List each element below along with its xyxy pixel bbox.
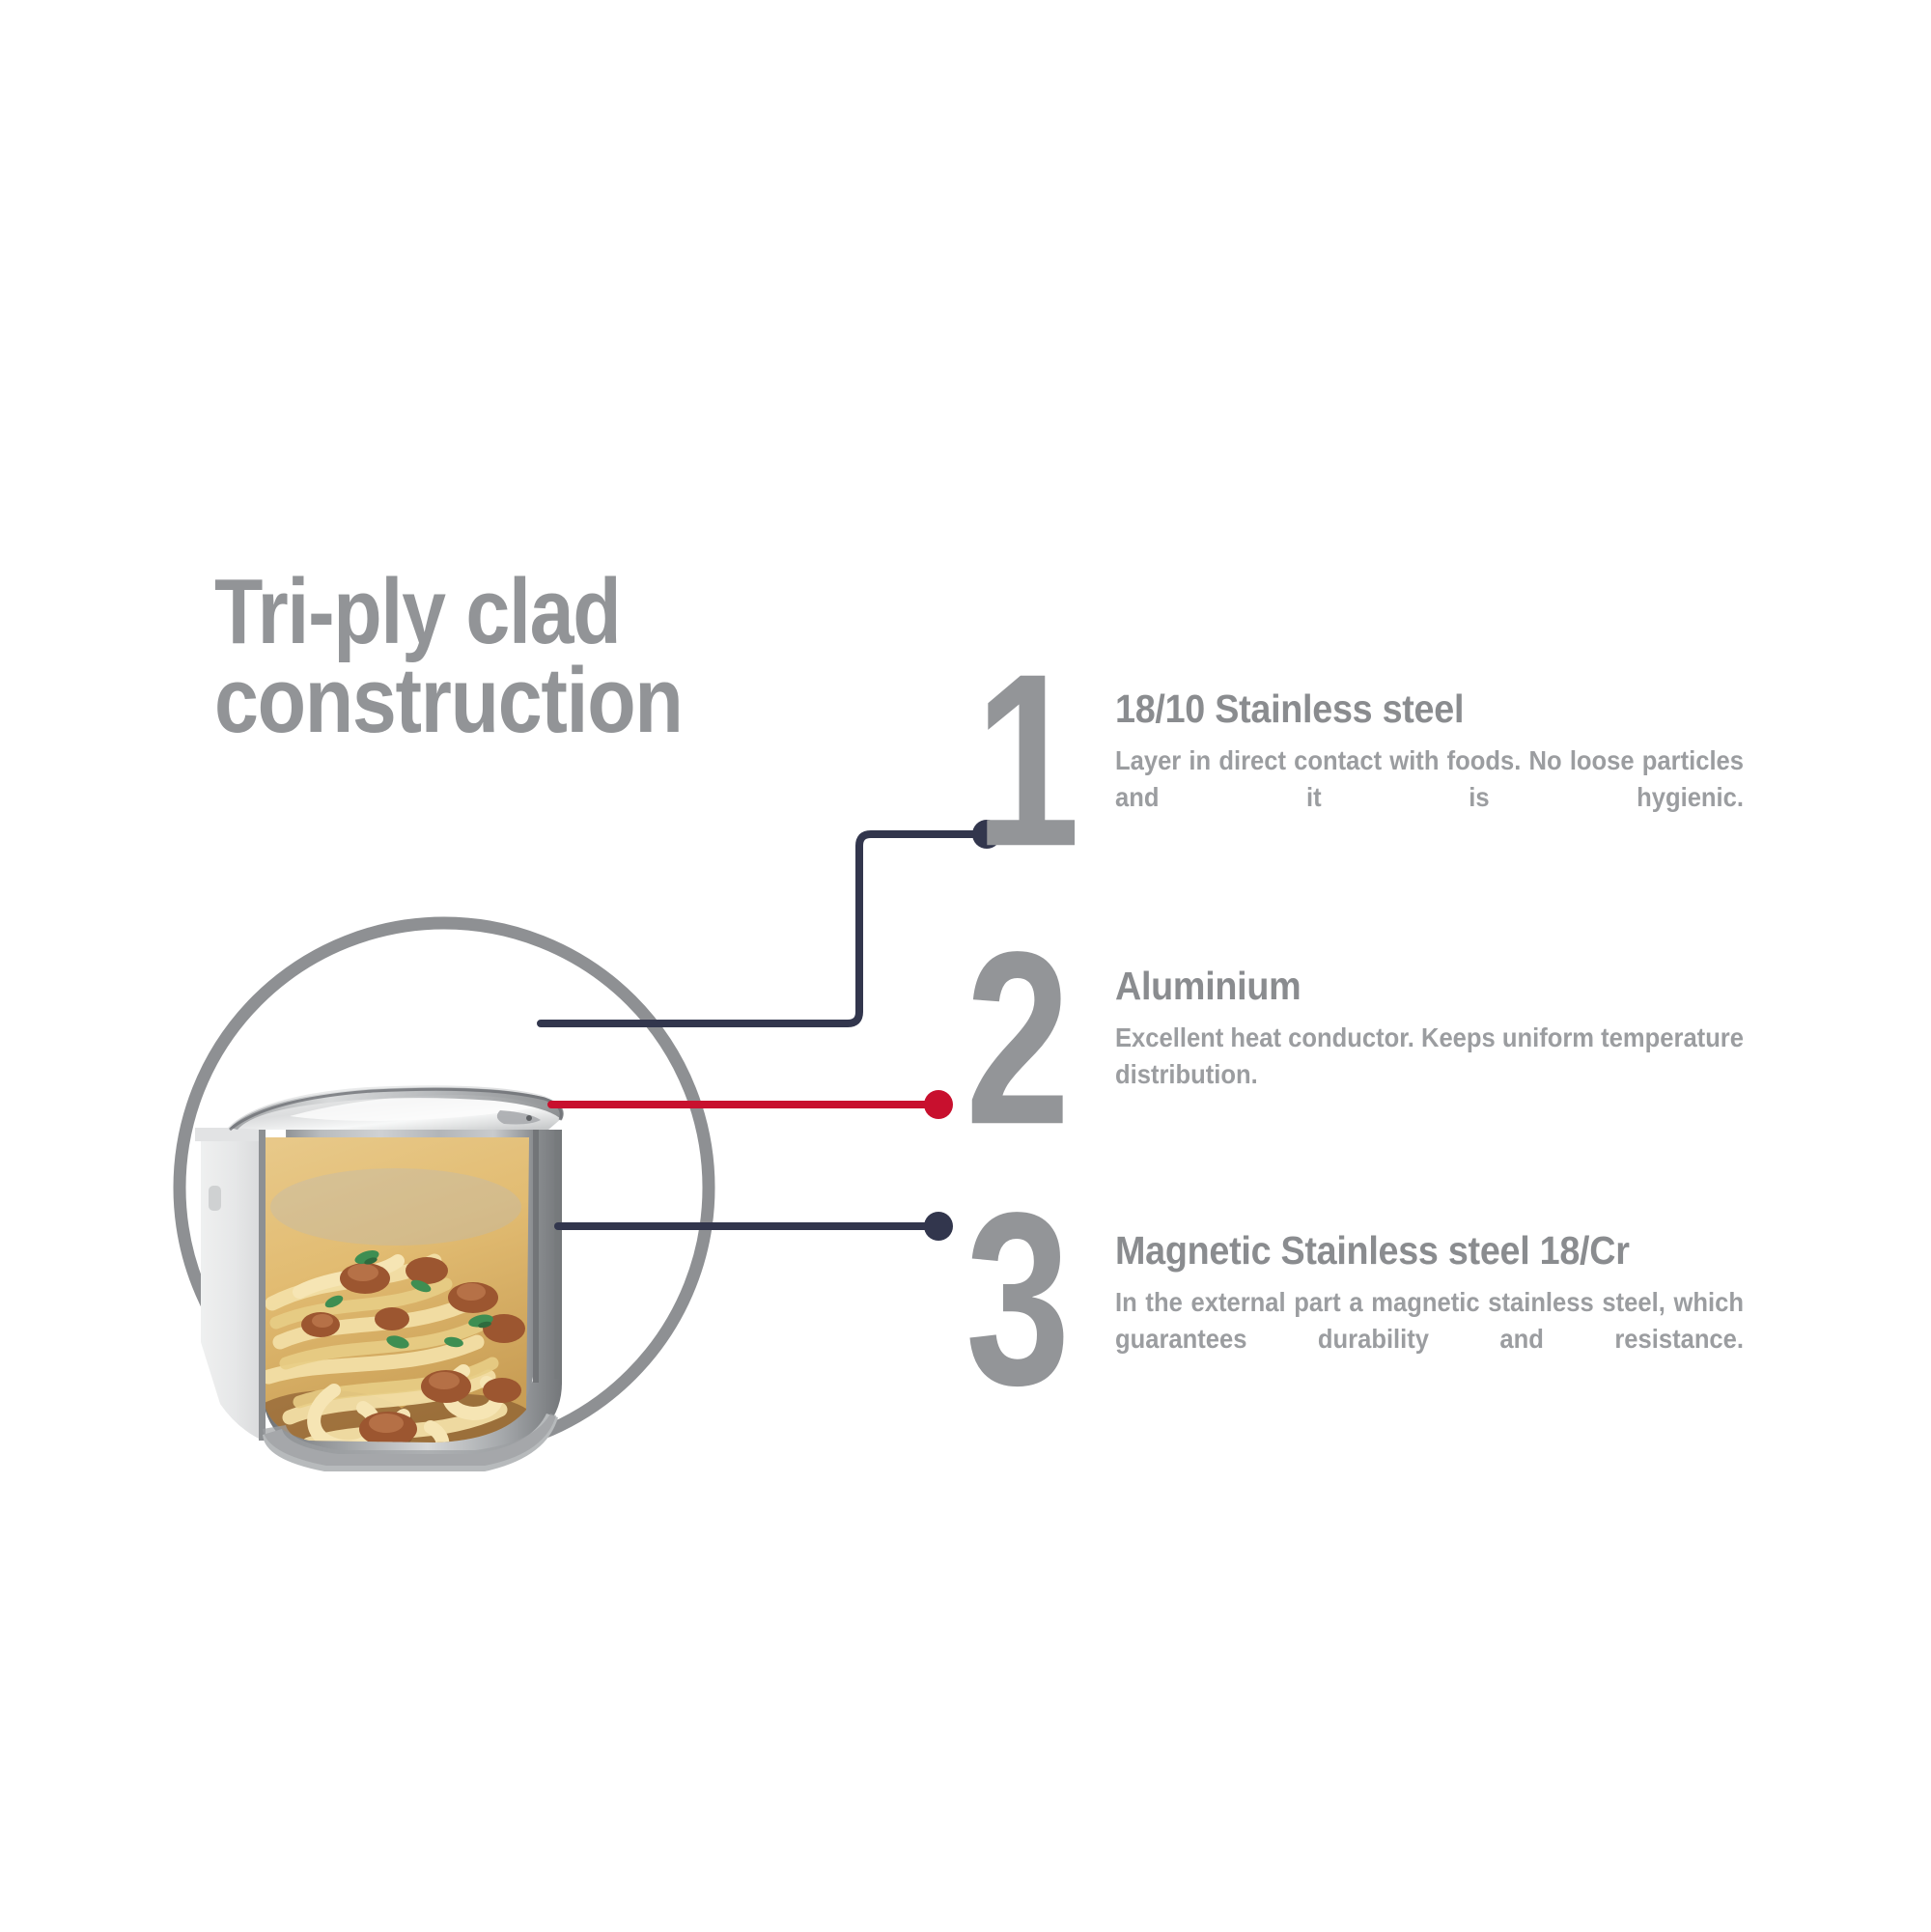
item-heading-2: Aluminium bbox=[1115, 966, 1691, 1007]
item-number-2: 2 bbox=[965, 915, 1070, 1162]
item-body-1: Layer in direct contact with foods. No l… bbox=[1115, 742, 1744, 853]
connector-dot-3 bbox=[924, 1212, 953, 1241]
item-heading-1: 18/10 Stainless steel bbox=[1115, 688, 1691, 730]
item-number-1: 1 bbox=[975, 637, 1079, 883]
pasta-photo bbox=[241, 1137, 541, 1468]
item-text-2: Aluminium Excellent heat conductor. Keep… bbox=[1115, 966, 1741, 1130]
item-text-1: 18/10 Stainless steel Layer in direct co… bbox=[1115, 688, 1741, 853]
item-body-2: Excellent heat conductor. Keeps uniform … bbox=[1115, 1020, 1744, 1130]
item-heading-3: Magnetic Stainless steel 18/Cr bbox=[1115, 1230, 1691, 1272]
pot-graphic bbox=[195, 1085, 564, 1471]
cutaway-pot-illustration bbox=[145, 888, 743, 1487]
connector-dot-2 bbox=[924, 1090, 953, 1119]
item-body-3: In the external part a magnetic stainles… bbox=[1115, 1284, 1744, 1394]
page-title: Tri-ply clad construction bbox=[214, 568, 812, 745]
infographic-canvas: Tri-ply clad construction bbox=[0, 0, 1931, 1932]
item-text-3: Magnetic Stainless steel 18/Cr In the ex… bbox=[1115, 1230, 1741, 1394]
item-number-3: 3 bbox=[965, 1176, 1070, 1422]
